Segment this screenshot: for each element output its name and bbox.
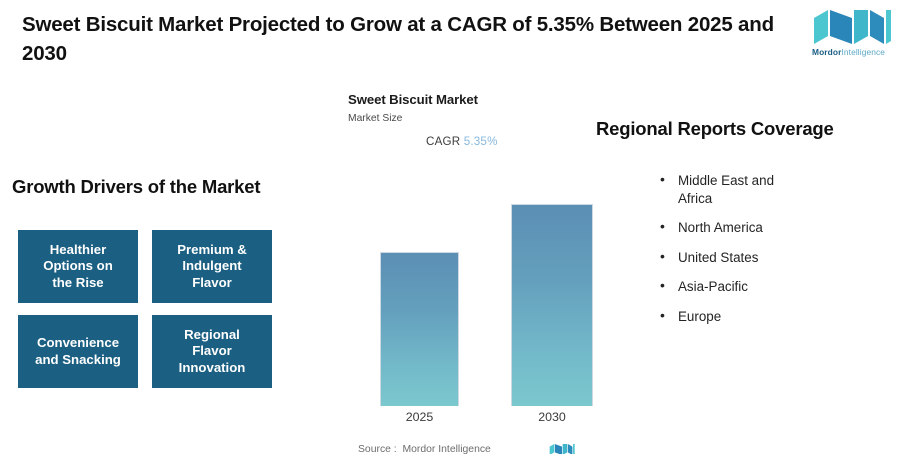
cagr-annotation: CAGR 5.35% bbox=[426, 135, 604, 148]
infographic-page: Sweet Biscuit Market Projected to Grow a… bbox=[0, 0, 900, 454]
driver-card[interactable]: Regional Flavor Innovation bbox=[152, 315, 272, 388]
brand-wordmark: MordorIntelligence bbox=[812, 47, 892, 57]
list-item[interactable]: Middle East and Africa bbox=[660, 172, 798, 207]
regional-coverage-list: Middle East and Africa North America Uni… bbox=[660, 172, 855, 337]
brand-logo: MordorIntelligence bbox=[812, 8, 892, 60]
list-item[interactable]: North America bbox=[660, 219, 855, 237]
driver-card[interactable]: Premium & Indulgent Flavor bbox=[152, 230, 272, 303]
mordor-intelligence-logo-small-icon bbox=[549, 442, 575, 454]
chart-plot-area bbox=[348, 192, 604, 406]
brand-name-light: Intelligence bbox=[841, 47, 885, 57]
list-item[interactable]: United States bbox=[660, 249, 855, 267]
regional-coverage-heading: Regional Reports Coverage bbox=[596, 118, 834, 140]
brand-name-bold: Mordor bbox=[812, 47, 841, 57]
chart-source-row: Source : Mordor Intelligence bbox=[358, 442, 604, 454]
cagr-value: 5.35% bbox=[464, 135, 498, 148]
x-tick-label-2025: 2025 bbox=[380, 410, 459, 424]
list-item[interactable]: Europe bbox=[660, 308, 855, 326]
cagr-label: CAGR bbox=[426, 135, 460, 148]
chart-x-axis-labels: 2025 2030 bbox=[348, 410, 604, 430]
page-title: Sweet Biscuit Market Projected to Grow a… bbox=[22, 10, 792, 68]
bar-2025[interactable] bbox=[380, 252, 459, 406]
growth-drivers-heading: Growth Drivers of the Market bbox=[12, 176, 260, 198]
chart-title: Sweet Biscuit Market bbox=[348, 92, 604, 107]
growth-drivers-grid: Healthier Options on the Rise Premium & … bbox=[18, 230, 274, 388]
list-item[interactable]: Asia-Pacific bbox=[660, 278, 855, 296]
chart-subtitle: Market Size bbox=[348, 113, 604, 124]
x-tick-label-2030: 2030 bbox=[511, 410, 593, 424]
bar-2030[interactable] bbox=[511, 204, 593, 406]
driver-card[interactable]: Convenience and Snacking bbox=[18, 315, 138, 388]
mordor-intelligence-logo-icon bbox=[812, 8, 892, 46]
chart-source-text: Source : Mordor Intelligence bbox=[358, 444, 491, 454]
driver-card[interactable]: Healthier Options on the Rise bbox=[18, 230, 138, 303]
market-size-chart: Sweet Biscuit Market Market Size CAGR 5.… bbox=[348, 92, 604, 452]
